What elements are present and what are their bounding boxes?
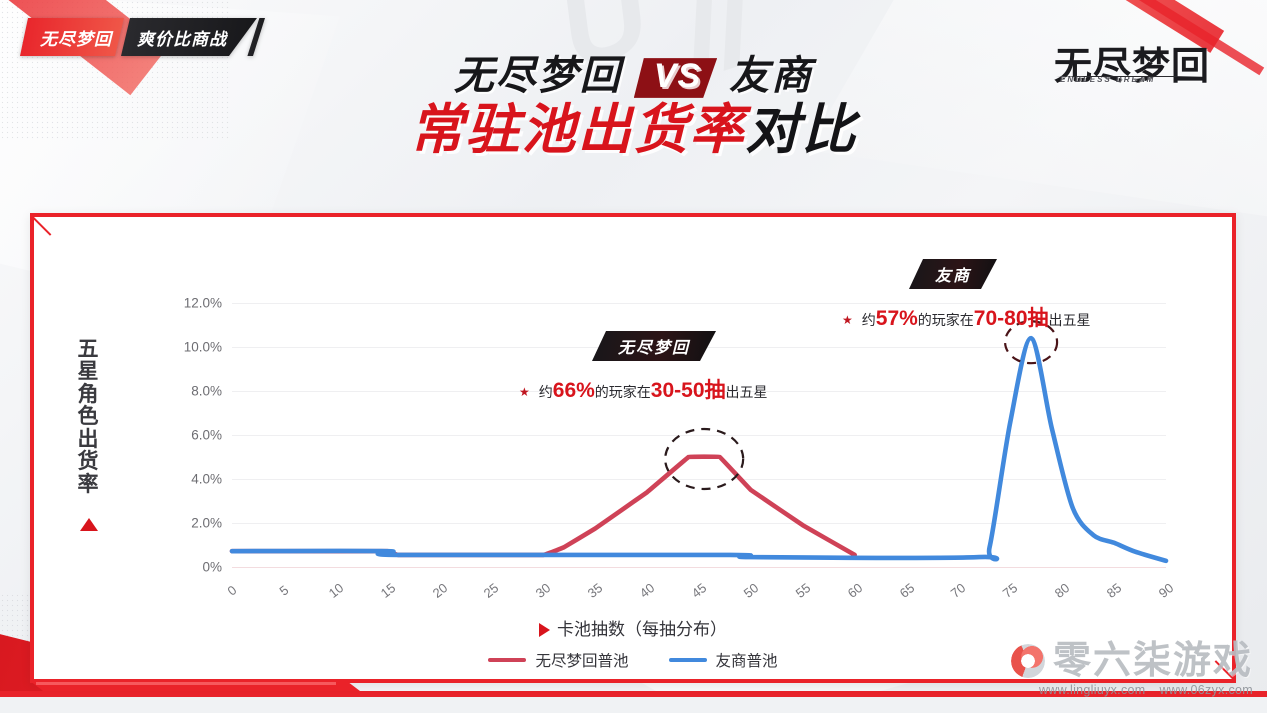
headline-subject: 常驻池出货率 <box>410 100 746 160</box>
headline-compare: 对比 <box>746 100 858 160</box>
x-axis-title: 卡池抽数（每抽分布） <box>34 615 1232 640</box>
annotation-1-prefix: 约 <box>539 384 553 400</box>
annotation-1-range: 30-50抽 <box>651 379 726 402</box>
annotation-2-suffix: 出五星 <box>1049 312 1091 328</box>
peak-highlight-ellipse <box>665 429 743 489</box>
headline-right: 友商 <box>729 55 813 97</box>
site-watermark: 零六柒游戏 www.lingliuyx.com www.06zyx.com <box>1011 642 1253 697</box>
legend-label: 友商普池 <box>716 649 778 671</box>
line-chart: 五星角色出货率 0%2.0%4.0%6.0%8.0%10.0%12.0% 051… <box>34 217 1232 679</box>
headline-vs-badge: VS <box>634 58 717 98</box>
ribbon-right-label: 爽价比商战 <box>121 18 257 56</box>
annotation-1-middle: 的玩家在 <box>595 384 651 400</box>
annotation-1-line: 约66%的玩家在30-50抽出五星 <box>539 374 768 404</box>
legend-label: 无尽梦回普池 <box>535 649 628 671</box>
annotation-text-2: ★ 约57%的玩家在70-80抽出五星 <box>842 302 1091 332</box>
game-logo-latin: ENDLESS DREAM <box>1060 76 1155 84</box>
play-triangle-icon <box>539 623 550 637</box>
panel-bottom-left-accent-2 <box>36 682 336 685</box>
legend-swatch <box>488 658 526 662</box>
annotation-2-value: 57% <box>876 307 918 330</box>
headline-line-2: 常驻池出货率对比 <box>0 103 1267 157</box>
game-logo-underline <box>1056 76 1202 78</box>
annotation-1-value: 66% <box>553 379 595 402</box>
headline-left: 无尽梦回 <box>454 55 622 97</box>
watermark-urls: www.lingliuyx.com www.06zyx.com <box>1039 683 1253 697</box>
watermark-url-1: www.lingliuyx.com <box>1039 683 1146 697</box>
annotation-2-range: 70-80抽 <box>974 307 1049 330</box>
chart-panel: 五星角色出货率 0%2.0%4.0%6.0%8.0%10.0%12.0% 051… <box>30 213 1236 683</box>
ribbon-left-label: 无尽梦回 <box>20 18 124 56</box>
annotation-2-line: 约57%的玩家在70-80抽出五星 <box>862 302 1091 332</box>
corner-ribbon-badge: 无尽梦回 爽价比商战 <box>20 18 265 56</box>
annotation-text-1: ★ 约66%的玩家在30-50抽出五星 <box>519 374 768 404</box>
watermark-swirl-icon <box>1011 644 1045 678</box>
annotation-2-prefix: 约 <box>862 312 876 328</box>
game-logo-text: 无尽梦回 ENDLESS DREAM <box>1054 48 1210 86</box>
legend-swatch <box>669 658 707 662</box>
watermark-brand: 零六柒游戏 <box>1053 642 1253 680</box>
x-axis-title-text: 卡池抽数（每抽分布） <box>557 620 727 639</box>
series-line <box>232 338 1166 561</box>
star-icon-1: ★ <box>519 385 530 399</box>
game-logo: 无尽梦回 ENDLESS DREAM <box>1027 34 1237 100</box>
annotation-1-suffix: 出五星 <box>726 384 768 400</box>
legend-item[interactable]: 友商普池 <box>669 649 778 671</box>
watermark-row: 零六柒游戏 <box>1011 642 1253 680</box>
annotation-2-middle: 的玩家在 <box>918 312 974 328</box>
series-line <box>232 457 855 555</box>
star-icon-2: ★ <box>842 313 853 327</box>
chart-curves <box>34 217 1232 679</box>
bg-bottom-strip <box>0 697 1267 713</box>
annotation-badge-1: 无尽梦回 <box>592 331 716 361</box>
watermark-url-2: www.06zyx.com <box>1159 683 1253 697</box>
legend-item[interactable]: 无尽梦回普池 <box>488 649 628 671</box>
